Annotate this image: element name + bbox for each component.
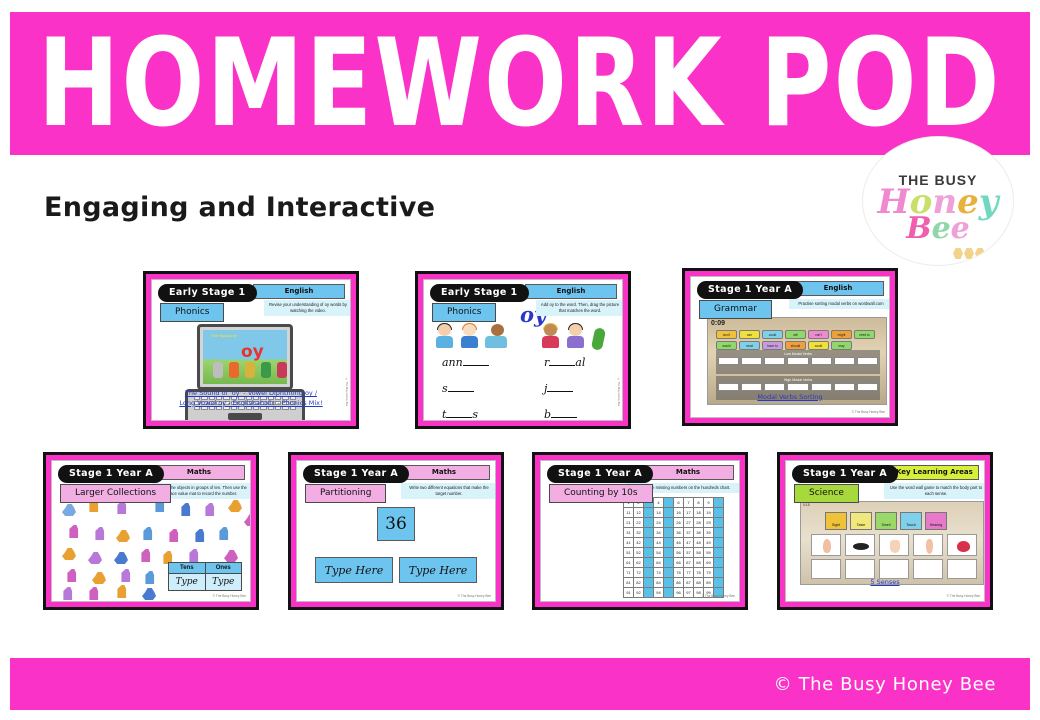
chart-cell-26[interactable]: 26 bbox=[674, 518, 684, 528]
chart-cell-61[interactable]: 61 bbox=[624, 558, 634, 568]
chart-cell-73[interactable] bbox=[644, 568, 654, 578]
stage-pill: Stage 1 Year A bbox=[303, 465, 409, 483]
dino-icon bbox=[194, 529, 208, 542]
answer-slot[interactable] bbox=[947, 559, 977, 579]
topic-tag: Science bbox=[794, 484, 859, 503]
word-blank-boy[interactable]: b bbox=[544, 408, 577, 421]
chart-cell-8[interactable]: 8 bbox=[694, 498, 704, 508]
chart-cell-65[interactable] bbox=[664, 558, 674, 568]
chart-cell-42[interactable]: 42 bbox=[634, 538, 644, 548]
chart-cell-11[interactable]: 11 bbox=[624, 508, 634, 518]
boy-king-icon[interactable] bbox=[540, 324, 561, 350]
dino-icon bbox=[180, 503, 194, 516]
subject-badge: Maths bbox=[153, 465, 245, 480]
low-modal-verbs-band[interactable]: Low Modal Verbs bbox=[716, 350, 880, 374]
chart-cell-71[interactable]: 71 bbox=[624, 568, 634, 578]
chart-cell-89[interactable]: 89 bbox=[704, 578, 714, 588]
subject-badge: English bbox=[792, 281, 884, 296]
laptop-trackpad bbox=[228, 413, 262, 420]
chart-cell-9[interactable]: 9 bbox=[704, 498, 714, 508]
answer-slot[interactable] bbox=[913, 559, 943, 579]
chart-cell-85[interactable] bbox=[664, 578, 674, 588]
equation-input-right[interactable]: Type Here bbox=[399, 557, 477, 583]
word-blank-ann[interactable]: ann bbox=[442, 356, 489, 369]
dino-icon bbox=[66, 569, 80, 582]
game-timer: 0:09 bbox=[711, 320, 725, 327]
chart-cell-23[interactable] bbox=[644, 518, 654, 528]
card-credit: © The Busy Honey Bee bbox=[702, 594, 735, 598]
chart-cell-25[interactable] bbox=[664, 518, 674, 528]
chart-cell-81[interactable]: 81 bbox=[624, 578, 634, 588]
chart-cell-68[interactable]: 68 bbox=[694, 558, 704, 568]
sense-label-row[interactable]: Sight Taste Smell Touch Hearing bbox=[825, 512, 947, 530]
nose-icon[interactable] bbox=[913, 534, 943, 556]
pea-pod-icon[interactable] bbox=[590, 324, 611, 350]
topic-tag: Phonics bbox=[160, 303, 224, 322]
chart-cell-56[interactable]: 56 bbox=[674, 548, 684, 558]
preview-card-phonics-video[interactable]: Early Stage 1 English Phonics Revise you… bbox=[143, 271, 359, 429]
chart-cell-4[interactable]: 4 bbox=[654, 498, 664, 508]
chart-cell-87[interactable]: 87 bbox=[684, 578, 694, 588]
preview-card-5-senses[interactable]: Stage 1 Year A Key Learning Areas Scienc… bbox=[777, 452, 993, 610]
card-credit: © The Busy Honey Bee bbox=[947, 594, 980, 598]
dino-icon bbox=[92, 571, 106, 584]
chart-cell-70[interactable] bbox=[714, 558, 724, 568]
chart-cell-16[interactable]: 16 bbox=[674, 508, 684, 518]
dino-icon bbox=[224, 549, 238, 562]
chart-cell-48[interactable]: 48 bbox=[694, 538, 704, 548]
chart-cell-62[interactable]: 62 bbox=[634, 558, 644, 568]
chart-cell-43[interactable] bbox=[644, 538, 654, 548]
chart-cell-67[interactable]: 67 bbox=[684, 558, 694, 568]
chart-cell-50[interactable] bbox=[714, 538, 724, 548]
chart-cell-17[interactable]: 17 bbox=[684, 508, 694, 518]
tongue-icon[interactable] bbox=[947, 534, 977, 556]
instruction-text: Practise sorting modal verbs on wordwall… bbox=[789, 299, 890, 309]
chart-cell-72[interactable]: 72 bbox=[634, 568, 644, 578]
game-timer: 0:15 bbox=[803, 503, 810, 507]
body-part-picture-row[interactable] bbox=[811, 534, 977, 556]
chart-cell-30[interactable] bbox=[714, 518, 724, 528]
dino-icon bbox=[116, 529, 130, 542]
dino-icon bbox=[88, 551, 102, 564]
dino-icon bbox=[114, 551, 128, 564]
chart-cell-40[interactable] bbox=[714, 528, 724, 538]
chart-cell-66[interactable]: 66 bbox=[674, 558, 684, 568]
chart-cell-6[interactable]: 6 bbox=[674, 498, 684, 508]
chart-cell-45[interactable] bbox=[664, 538, 674, 548]
chart-cell-34[interactable]: 34 bbox=[654, 528, 664, 538]
card-inner: Early Stage 1 English Phonics Add oy to … bbox=[423, 279, 623, 421]
cell-ones-input[interactable]: Type bbox=[206, 573, 242, 590]
place-value-table[interactable]: Tens Ones Type Type bbox=[168, 562, 242, 591]
preview-card-grammar-modal-verbs[interactable]: Stage 1 Year A English Grammar Practise … bbox=[682, 268, 898, 426]
word-blank-soy[interactable]: s bbox=[442, 382, 474, 395]
chart-cell-24[interactable]: 24 bbox=[654, 518, 664, 528]
chart-cell-75[interactable] bbox=[664, 568, 674, 578]
dino-icon bbox=[94, 527, 108, 540]
video-thumb-title: The Sound of bbox=[211, 333, 237, 338]
dino-icon bbox=[228, 499, 242, 512]
subject-badge: Maths bbox=[642, 465, 734, 480]
card-credit: © The Busy Honey Bee bbox=[617, 378, 620, 406]
chart-cell-12[interactable]: 12 bbox=[634, 508, 644, 518]
resource-link-line1: The Sound of 'oy' - Vowel Diphthong oy / bbox=[185, 389, 317, 397]
brand-logo: THE BUSY Honey Bee bbox=[862, 136, 1014, 266]
header-band: HOMEWORK POD bbox=[10, 12, 1030, 155]
chart-cell-13[interactable] bbox=[644, 508, 654, 518]
hundreds-chart[interactable]: 1246789111214161718192122242627282931323… bbox=[623, 497, 724, 598]
sense-tile-smell[interactable]: Smell bbox=[875, 512, 897, 530]
topic-tag: Grammar bbox=[699, 300, 772, 319]
drop-slots-low[interactable] bbox=[716, 356, 880, 366]
homework-pod-page: HOMEWORK POD THE BUSY Honey Bee Engaging… bbox=[0, 0, 1040, 720]
eye-icon[interactable] bbox=[845, 534, 875, 556]
instruction-text: Add oy to the word. Then, drag the pictu… bbox=[536, 300, 623, 316]
chart-cell-10[interactable] bbox=[714, 498, 724, 508]
target-number: 36 bbox=[377, 507, 415, 541]
instruction-text: Write two different equations that make … bbox=[401, 483, 496, 499]
card-credit: © The Busy Honey Bee bbox=[458, 594, 491, 598]
dino-icon bbox=[142, 527, 156, 540]
chart-cell-64[interactable]: 64 bbox=[654, 558, 664, 568]
preview-card-larger-collections[interactable]: Stage 1 Year A Maths Larger Collections … bbox=[43, 452, 259, 610]
laptop-screen: The Sound of oy bbox=[197, 324, 293, 390]
subject-badge: Maths bbox=[398, 465, 490, 480]
video-thumb-letters: oy bbox=[241, 342, 264, 362]
dino-icon bbox=[244, 513, 251, 526]
chart-cell-84[interactable]: 84 bbox=[654, 578, 664, 588]
chart-cell-29[interactable]: 29 bbox=[704, 518, 714, 528]
answer-slot[interactable] bbox=[879, 559, 909, 579]
dino-icon bbox=[62, 503, 76, 516]
chart-cell-76[interactable]: 76 bbox=[674, 568, 684, 578]
card-inner: Stage 1 Year A English Grammar Practise … bbox=[690, 276, 890, 418]
column-header-ones: Ones bbox=[206, 563, 242, 573]
topic-tag: Phonics bbox=[432, 303, 496, 322]
preview-card-partitioning[interactable]: Stage 1 Year A Maths Partitioning Write … bbox=[288, 452, 504, 610]
sense-tile-sight[interactable]: Sight bbox=[825, 512, 847, 530]
picture-row[interactable] bbox=[434, 324, 623, 350]
resource-link[interactable]: The Sound of 'oy' - Vowel Diphthong oy /… bbox=[152, 389, 350, 408]
table-row[interactable]: Type Type bbox=[169, 573, 241, 590]
card-inner: Stage 1 Year A Maths Larger Collections … bbox=[51, 460, 251, 602]
answer-slot[interactable] bbox=[811, 559, 841, 579]
dino-icon bbox=[116, 585, 130, 598]
hand-icon[interactable] bbox=[879, 534, 909, 556]
answer-slot-row[interactable] bbox=[811, 559, 977, 579]
dino-icon bbox=[62, 587, 76, 600]
dino-icon bbox=[144, 571, 158, 584]
chart-cell-49[interactable]: 49 bbox=[704, 538, 714, 548]
chart-cell-54[interactable]: 54 bbox=[654, 548, 664, 558]
chart-cell-46[interactable]: 46 bbox=[674, 538, 684, 548]
chart-cell-91[interactable]: 91 bbox=[624, 588, 634, 598]
word-blank-joy[interactable]: j bbox=[544, 382, 573, 395]
cell-tens-input[interactable]: Type bbox=[169, 573, 206, 590]
chart-cell-97[interactable]: 97 bbox=[684, 588, 694, 598]
chart-cell-69[interactable]: 69 bbox=[704, 558, 714, 568]
chart-cell-82[interactable]: 82 bbox=[634, 578, 644, 588]
chart-cell-36[interactable]: 36 bbox=[674, 528, 684, 538]
chart-cell-80[interactable] bbox=[714, 568, 724, 578]
chart-cell-7[interactable]: 7 bbox=[684, 498, 694, 508]
chart-cell-63[interactable] bbox=[644, 558, 654, 568]
resource-link[interactable]: Modal Verbs Sorting bbox=[691, 393, 889, 402]
chart-cell-41[interactable]: 41 bbox=[624, 538, 634, 548]
chart-cell-19[interactable]: 19 bbox=[704, 508, 714, 518]
footer-copyright: © The Busy Honey Bee bbox=[774, 674, 996, 695]
card-credit: © The Busy Honey Bee bbox=[213, 594, 246, 598]
instruction-text: Revise your understanding of oy words by… bbox=[264, 300, 351, 316]
chart-cell-35[interactable] bbox=[664, 528, 674, 538]
chart-cell-52[interactable]: 52 bbox=[634, 548, 644, 558]
boy-icon[interactable] bbox=[434, 324, 455, 350]
topic-tag: Partitioning bbox=[305, 484, 386, 503]
footer-band: © The Busy Honey Bee bbox=[10, 658, 1030, 710]
stage-pill: Early Stage 1 bbox=[430, 284, 529, 302]
chart-cell-38[interactable]: 38 bbox=[694, 528, 704, 538]
ear-icon[interactable] bbox=[811, 534, 841, 556]
teddy-bear-toy-icon[interactable] bbox=[484, 324, 510, 350]
word-blank-toys[interactable]: ts bbox=[442, 408, 478, 421]
dino-icon bbox=[68, 525, 82, 538]
instruction-text: Use the word wall game to match the body… bbox=[884, 483, 985, 499]
chart-cell-96[interactable]: 96 bbox=[674, 588, 684, 598]
card-inner: Stage 1 Year A Maths Counting by 10s Fil… bbox=[540, 460, 740, 602]
chart-cell-27[interactable]: 27 bbox=[684, 518, 694, 528]
stage-pill: Stage 1 Year A bbox=[697, 281, 803, 299]
honeycomb-icon bbox=[953, 237, 999, 259]
card-credit: © The Busy Honey Bee bbox=[852, 410, 885, 414]
chart-cell-92[interactable]: 92 bbox=[634, 588, 644, 598]
chart-cell-51[interactable]: 51 bbox=[624, 548, 634, 558]
dino-icon bbox=[62, 547, 76, 560]
chart-cell-20[interactable] bbox=[714, 508, 724, 518]
dino-icon bbox=[204, 503, 218, 516]
chart-cell-78[interactable]: 78 bbox=[694, 568, 704, 578]
stage-pill: Stage 1 Year A bbox=[58, 465, 164, 483]
chart-cell-53[interactable] bbox=[644, 548, 654, 558]
preview-card-counting-by-10s[interactable]: Stage 1 Year A Maths Counting by 10s Fil… bbox=[532, 452, 748, 610]
subtitle: Engaging and Interactive bbox=[44, 192, 435, 223]
sense-tile-touch[interactable]: Touch bbox=[900, 512, 922, 530]
chart-cell-15[interactable] bbox=[664, 508, 674, 518]
chart-cell-22[interactable]: 22 bbox=[634, 518, 644, 528]
chart-cell-57[interactable]: 57 bbox=[684, 548, 694, 558]
chart-cell-74[interactable]: 74 bbox=[654, 568, 664, 578]
chart-cell-21[interactable]: 21 bbox=[624, 518, 634, 528]
chart-cell-28[interactable]: 28 bbox=[694, 518, 704, 528]
dino-icon bbox=[120, 569, 134, 582]
video-thumbnail: The Sound of oy bbox=[203, 330, 287, 384]
chart-cell-60[interactable] bbox=[714, 548, 724, 558]
chart-cell-79[interactable]: 79 bbox=[704, 568, 714, 578]
dino-icon bbox=[140, 549, 154, 562]
sense-tile-taste[interactable]: Taste bbox=[850, 512, 872, 530]
dino-icon bbox=[168, 529, 182, 542]
chart-cell-83[interactable] bbox=[644, 578, 654, 588]
chart-cell-88[interactable]: 88 bbox=[694, 578, 704, 588]
chart-cell-95[interactable] bbox=[664, 588, 674, 598]
chart-cell-58[interactable]: 58 bbox=[694, 548, 704, 558]
sense-tile-hearing[interactable]: Hearing bbox=[925, 512, 947, 530]
girl-jumping-icon[interactable] bbox=[565, 324, 586, 350]
page-title: HOMEWORK POD bbox=[38, 23, 1002, 144]
table-header-row: Tens Ones bbox=[169, 563, 241, 573]
chart-cell-14[interactable]: 14 bbox=[654, 508, 664, 518]
equation-input-left[interactable]: Type Here bbox=[315, 557, 393, 583]
chart-cell-44[interactable]: 44 bbox=[654, 538, 664, 548]
subject-badge: English bbox=[525, 284, 617, 299]
dino-icon bbox=[188, 549, 202, 562]
chart-cell-59[interactable]: 59 bbox=[704, 548, 714, 558]
chart-cell-86[interactable]: 86 bbox=[674, 578, 684, 588]
chart-cell-39[interactable]: 39 bbox=[704, 528, 714, 538]
subject-badge: English bbox=[253, 284, 345, 299]
chart-cell-90[interactable] bbox=[714, 578, 724, 588]
chart-cell-93[interactable] bbox=[644, 588, 654, 598]
chart-cell-94[interactable]: 94 bbox=[654, 588, 664, 598]
stage-pill: Stage 1 Year A bbox=[547, 465, 653, 483]
topic-tag: Larger Collections bbox=[60, 484, 171, 503]
stage-pill: Early Stage 1 bbox=[158, 284, 257, 302]
senses-game[interactable]: 0:15 Sight Taste Smell Touch Hearing bbox=[800, 501, 984, 585]
word-blank-royal[interactable]: ral bbox=[544, 356, 585, 369]
modal-verb-tiles[interactable]: won'tcan couldwill can'tmight need to wo… bbox=[716, 330, 880, 350]
card-inner: Early Stage 1 English Phonics Revise you… bbox=[151, 279, 351, 421]
chart-cell-33[interactable] bbox=[644, 528, 654, 538]
chart-cell-47[interactable]: 47 bbox=[684, 538, 694, 548]
chart-cell-5[interactable] bbox=[664, 498, 674, 508]
dino-icon bbox=[218, 527, 232, 540]
chart-cell-55[interactable] bbox=[664, 548, 674, 558]
chart-cell-37[interactable]: 37 bbox=[684, 528, 694, 538]
chart-cell-32[interactable]: 32 bbox=[634, 528, 644, 538]
stage-pill: Stage 1 Year A bbox=[792, 465, 898, 483]
chart-cell-31[interactable]: 31 bbox=[624, 528, 634, 538]
card-inner: Stage 1 Year A Key Learning Areas Scienc… bbox=[785, 460, 985, 602]
answer-slot[interactable] bbox=[845, 559, 875, 579]
preview-card-phonics-oy[interactable]: Early Stage 1 English Phonics Add oy to … bbox=[415, 271, 631, 429]
drop-slots-high[interactable] bbox=[716, 382, 880, 392]
column-header-tens: Tens bbox=[169, 563, 206, 573]
chart-cell-77[interactable]: 77 bbox=[684, 568, 694, 578]
dino-icon bbox=[88, 587, 102, 600]
resource-link-line2: Long Vowel oy - Englishaholic - Phonics … bbox=[179, 399, 322, 407]
card-inner: Stage 1 Year A Maths Partitioning Write … bbox=[296, 460, 496, 602]
chart-cell-18[interactable]: 18 bbox=[694, 508, 704, 518]
resource-link[interactable]: 5 Senses bbox=[786, 578, 984, 587]
boy-red-hair-icon[interactable] bbox=[459, 324, 480, 350]
topic-tag: Counting by 10s bbox=[549, 484, 653, 503]
dino-icon bbox=[142, 587, 156, 600]
card-credit: © The Busy Honey Bee bbox=[345, 378, 348, 406]
